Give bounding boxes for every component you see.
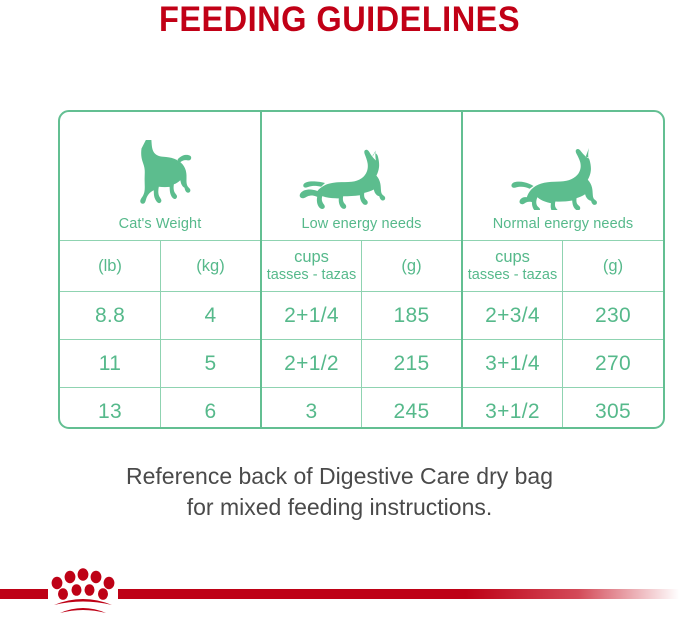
footer-note: Reference back of Digestive Care dry bag… [0, 461, 679, 523]
unit-header-low-g-main: (g) [362, 257, 461, 276]
lying-cat-icon [297, 140, 427, 210]
group-header-cat-weight: Cat's Weight [60, 112, 261, 241]
royal-canin-crown-logo [47, 567, 119, 615]
standing-cat-icon [121, 140, 199, 210]
cell-normal-cups: 2+3/4 [462, 292, 563, 340]
brand-bar-left-segment [0, 589, 48, 599]
brand-bar-right-segment [118, 589, 679, 599]
unit-header-normal-g-main: (g) [563, 257, 663, 276]
footer-note-line-1: Reference back of Digestive Care dry bag [0, 461, 679, 492]
group-header-low-energy: Low energy needs [261, 112, 462, 241]
table-row: 13 6 3 245 3+1/2 305 [60, 388, 663, 430]
group-header-normal-energy: Normal energy needs [462, 112, 663, 241]
walking-cat-icon [501, 140, 626, 210]
cell-low-g: 245 [362, 388, 463, 430]
page-title: FEEDING GUIDELINES [24, 0, 655, 40]
cell-normal-g: 230 [563, 292, 664, 340]
cell-normal-g: 305 [563, 388, 664, 430]
table-row: 8.8 4 2+1/4 185 2+3/4 230 [60, 292, 663, 340]
unit-header-lb-main: (lb) [60, 257, 160, 276]
cell-low-g: 215 [362, 340, 463, 388]
cell-weight-lb: 11 [60, 340, 161, 388]
group-label-cat-weight: Cat's Weight [119, 216, 202, 232]
unit-header-low-cups-sub: tasses - tazas [262, 267, 361, 284]
cell-weight-lb: 8.8 [60, 292, 161, 340]
table-group-header-row: Cat's Weight Low energy needs [60, 112, 663, 241]
table-row: 11 5 2+1/2 215 3+1/4 270 [60, 340, 663, 388]
unit-header-low-cups-main: cups [262, 248, 361, 267]
cell-low-cups: 2+1/2 [261, 340, 362, 388]
cell-weight-kg: 4 [161, 292, 262, 340]
group-label-low-energy: Low energy needs [301, 216, 421, 232]
footer-note-line-2: for mixed feeding instructions. [0, 492, 679, 523]
cell-low-cups: 2+1/4 [261, 292, 362, 340]
unit-header-normal-g: (g) [563, 241, 664, 292]
unit-header-low-cups: cups tasses - tazas [261, 241, 362, 292]
group-label-normal-energy: Normal energy needs [493, 216, 634, 232]
unit-header-normal-cups: cups tasses - tazas [462, 241, 563, 292]
cell-normal-cups: 3+1/4 [462, 340, 563, 388]
cell-weight-kg: 6 [161, 388, 262, 430]
table-unit-header-row: (lb) (kg) cups tasses - tazas (g) cups t… [60, 241, 663, 292]
unit-header-normal-cups-main: cups [463, 248, 562, 267]
cell-normal-cups: 3+1/2 [462, 388, 563, 430]
cell-normal-g: 270 [563, 340, 664, 388]
feeding-guidelines-table: Cat's Weight Low energy needs [58, 110, 665, 429]
unit-header-lb: (lb) [60, 241, 161, 292]
unit-header-low-g: (g) [362, 241, 463, 292]
cell-low-g: 185 [362, 292, 463, 340]
unit-header-normal-cups-sub: tasses - tazas [463, 267, 562, 284]
unit-header-kg: (kg) [161, 241, 262, 292]
cell-weight-kg: 5 [161, 340, 262, 388]
unit-header-kg-main: (kg) [161, 257, 260, 276]
cell-weight-lb: 13 [60, 388, 161, 430]
cell-low-cups: 3 [261, 388, 362, 430]
